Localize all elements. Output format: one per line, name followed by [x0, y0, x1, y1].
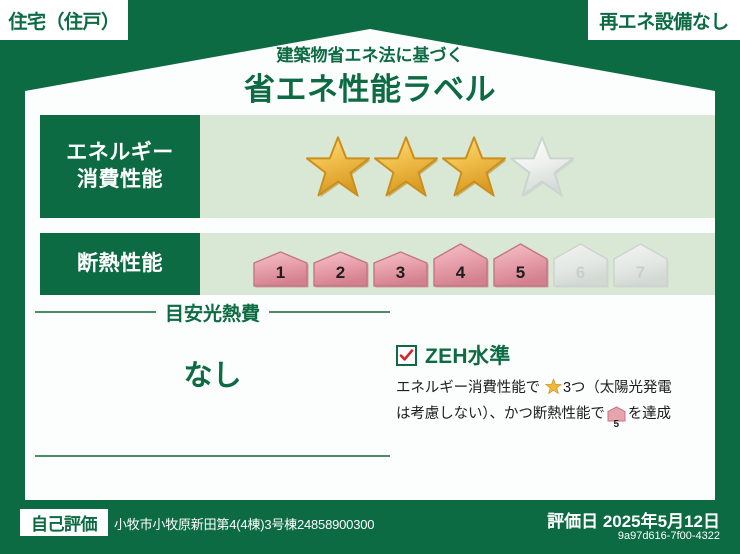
insulation-performance-row: 断熱性能 1234567	[40, 233, 715, 295]
footer-bar: 自己評価 小牧市小牧原新田第4(4棟)3号棟24858900300 評価日 20…	[0, 500, 740, 554]
insulation-level-6: 6	[552, 241, 609, 288]
energy-label-line2: 消費性能	[77, 167, 163, 194]
evaluation-id: 9a97d616-7f00-4322	[618, 530, 720, 542]
utility-cost-bottom-rule	[35, 455, 390, 457]
insulation-level-2: 2	[312, 249, 369, 288]
zeh-description: エネルギー消費性能で 3つ（太陽光発電は考慮しない）、かつ断熱性能で 5を達成	[396, 377, 708, 431]
self-evaluation-badge: 自己評価	[20, 509, 108, 536]
energy-performance-label: エネルギー 消費性能	[40, 115, 200, 218]
insulation-level-number: 5	[492, 263, 549, 283]
energy-performance-panel	[200, 115, 715, 218]
zeh-desc-stars: 3つ（太陽光発電	[563, 380, 672, 396]
zeh-title: ZEH水準	[425, 340, 511, 370]
evaluation-date: 評価日 2025年5月12日	[547, 507, 720, 532]
check-icon	[399, 348, 414, 363]
star-filled	[305, 134, 371, 200]
zeh-desc-part2: は考慮しない）、かつ断熱性能で	[396, 406, 605, 422]
insulation-level-7: 7	[612, 241, 669, 288]
rule-left	[35, 311, 156, 313]
property-address: 小牧市小牧原新田第4(4棟)3号棟24858900300	[114, 514, 374, 533]
insulation-performance-label: 断熱性能	[40, 233, 200, 295]
utility-cost-title: 目安光熱費	[165, 299, 260, 326]
page-title: 省エネ性能ラベル	[0, 64, 740, 109]
insulation-level-number: 3	[372, 263, 429, 283]
label-canvas: 住宅（住戸） 再エネ設備なし 建築物省エネ法に基づく 省エネ性能ラベル エネルギ…	[0, 0, 740, 554]
insulation-performance-panel: 1234567	[200, 233, 715, 295]
badge-building-type: 住宅（住戸）	[0, 0, 128, 40]
insulation-level-number: 2	[312, 263, 369, 283]
inline-star-icon	[541, 383, 562, 399]
zeh-desc-part3: を達成	[628, 406, 671, 422]
insulation-level-number: 6	[552, 263, 609, 283]
star-empty	[509, 134, 575, 200]
rule-right	[269, 311, 390, 313]
utility-cost-header: 目安光熱費	[35, 300, 390, 324]
zeh-checkbox[interactable]	[396, 345, 417, 366]
badge-renewable-energy: 再エネ設備なし	[588, 0, 740, 40]
star-rating	[305, 134, 575, 200]
insulation-level-3: 3	[372, 249, 429, 288]
insulation-level-4: 4	[432, 241, 489, 288]
star-filled	[441, 134, 507, 200]
zeh-block: ZEH水準 エネルギー消費性能で 3つ（太陽光発電は考慮しない）、かつ断熱性能で…	[396, 340, 708, 431]
header-subtitle: 建築物省エネ法に基づく	[0, 41, 740, 66]
inline-house-number: 5	[607, 419, 626, 431]
insulation-level-1: 1	[252, 249, 309, 288]
inline-house-badge: 5	[607, 406, 626, 430]
insulation-level-number: 1	[252, 263, 309, 283]
insulation-level-scale: 1234567	[252, 241, 669, 288]
insulation-label-text: 断熱性能	[77, 251, 163, 278]
insulation-level-5: 5	[492, 241, 549, 288]
energy-label-line1: エネルギー	[66, 140, 174, 167]
zeh-desc-part1: エネルギー消費性能で	[396, 380, 540, 396]
utility-cost-value: なし	[35, 352, 390, 394]
insulation-level-number: 7	[612, 263, 669, 283]
energy-performance-row: エネルギー 消費性能	[40, 115, 715, 218]
zeh-header: ZEH水準	[396, 340, 708, 370]
insulation-level-number: 4	[432, 263, 489, 283]
star-filled	[373, 134, 439, 200]
